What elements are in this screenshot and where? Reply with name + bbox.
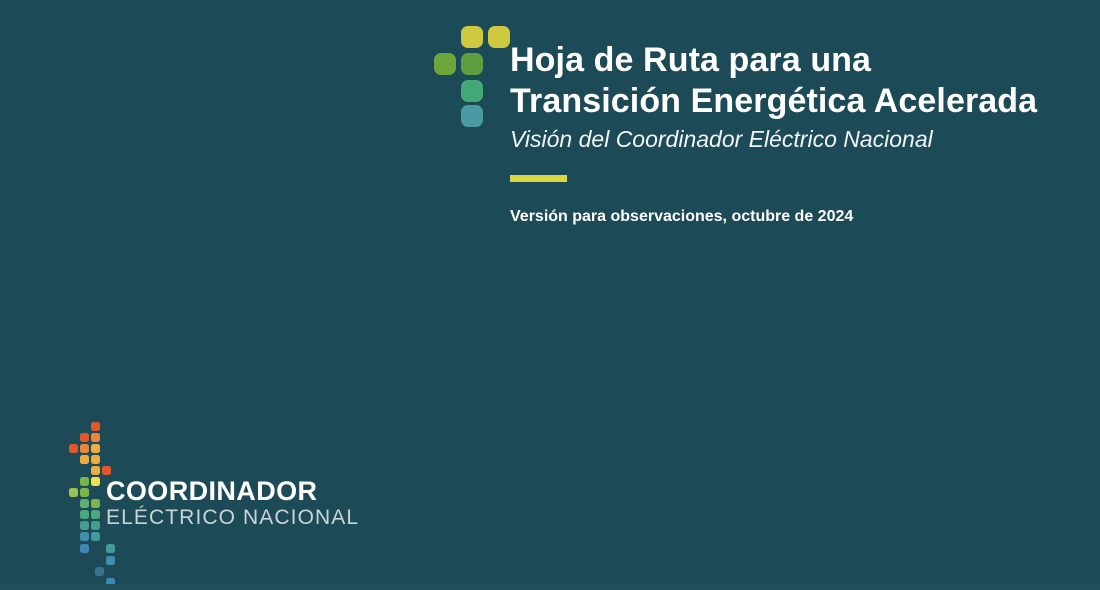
logo-wordmark: COORDINADOR ELÉCTRICO NACIONAL — [106, 477, 331, 530]
title-dot — [488, 26, 510, 48]
brand-logo: COORDINADOR ELÉCTRICO NACIONAL — [58, 420, 328, 585]
logo-dot — [91, 466, 100, 475]
logo-dot — [106, 556, 115, 565]
title-divider — [510, 175, 567, 182]
logo-dot — [91, 532, 100, 541]
page-subtitle: Visión del Coordinador Eléctrico Naciona… — [510, 124, 1070, 154]
logo-dot — [69, 444, 78, 453]
title-block: Hoja de Ruta para una Transición Energét… — [510, 40, 1070, 228]
logo-dot — [80, 455, 89, 464]
logo-dot — [91, 510, 100, 519]
logo-dot — [106, 544, 115, 553]
logo-dot — [80, 521, 89, 530]
logo-dot — [69, 488, 78, 497]
logo-dot — [91, 455, 100, 464]
title-dot — [461, 105, 483, 127]
logo-dot — [80, 433, 89, 442]
cover-slide: Hoja de Ruta para una Transición Energét… — [0, 0, 1100, 590]
logo-dot — [91, 433, 100, 442]
logo-dot — [91, 499, 100, 508]
page-title-line-2: Transición Energética Acelerada — [510, 81, 1070, 122]
logo-dot — [80, 544, 89, 553]
logo-dot — [80, 488, 89, 497]
logo-dot — [80, 499, 89, 508]
logo-dot — [80, 477, 89, 486]
bottom-edge-band — [0, 584, 1100, 590]
logo-dot — [91, 477, 100, 486]
title-dot — [434, 53, 456, 75]
logo-dot — [102, 466, 111, 475]
version-label: Versión para observaciones, octubre de 2… — [510, 206, 1070, 228]
logo-secondary-text: ELÉCTRICO NACIONAL — [106, 506, 331, 530]
logo-dot — [95, 567, 104, 576]
logo-dot — [80, 510, 89, 519]
logo-primary-text: COORDINADOR — [106, 477, 331, 506]
page-title-line-1: Hoja de Ruta para una — [510, 40, 1070, 81]
logo-dot — [91, 422, 100, 431]
title-dot-cluster-icon — [432, 26, 502, 126]
logo-dot — [80, 532, 89, 541]
title-dot — [461, 53, 483, 75]
title-dot — [461, 26, 483, 48]
logo-dot — [91, 521, 100, 530]
title-dot — [461, 80, 483, 102]
logo-dot — [80, 444, 89, 453]
logo-dot — [91, 444, 100, 453]
